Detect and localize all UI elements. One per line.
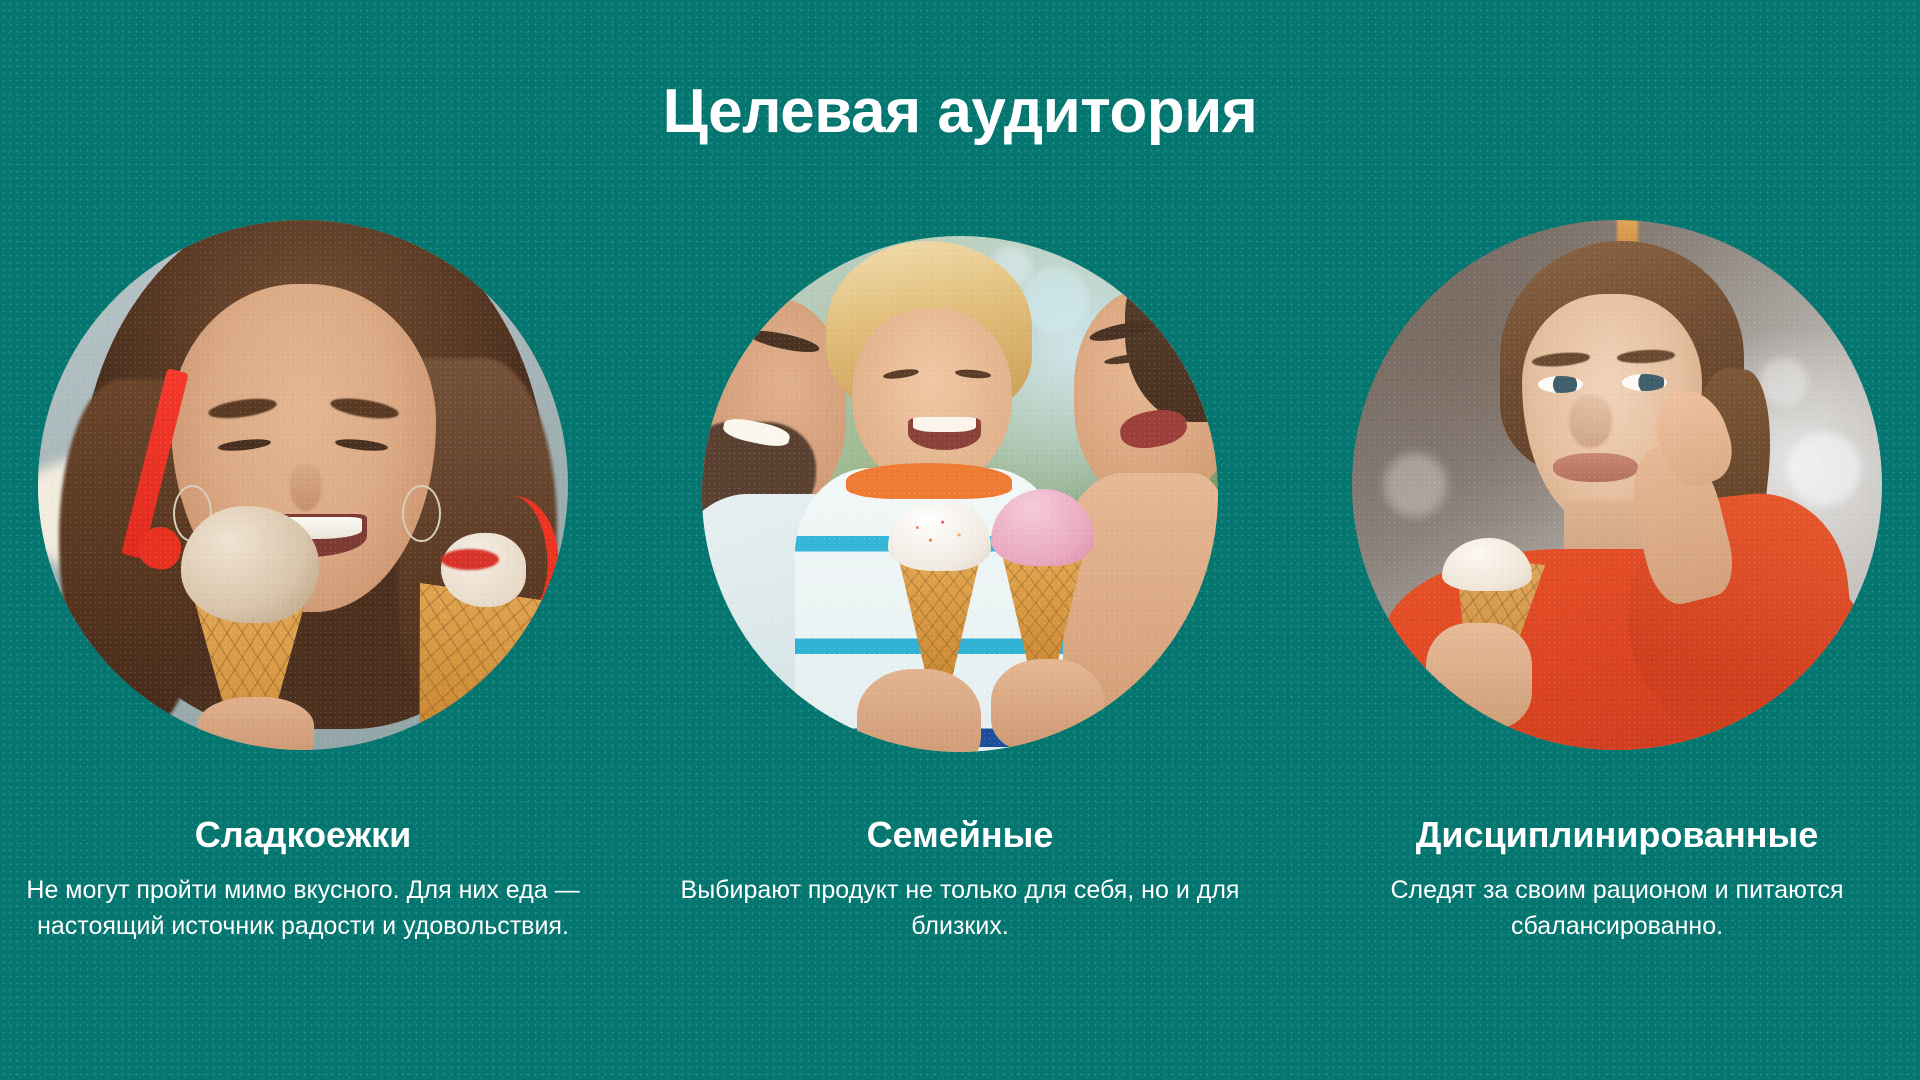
photo-illustration-family-with-icecream bbox=[702, 236, 1218, 752]
persona-description-sweet-tooth: Не могут пройти мимо вкусного. Для них е… bbox=[21, 873, 586, 944]
persona-card-sweet-tooth: Сладкоежки Не могут пройти мимо вкусного… bbox=[18, 220, 588, 944]
persona-title-sweet-tooth: Сладкоежки bbox=[195, 814, 412, 855]
persona-photo-family bbox=[702, 236, 1218, 752]
persona-photo-disciplined bbox=[1352, 220, 1882, 750]
photo-illustration-woman-eating-icecream bbox=[38, 220, 568, 750]
persona-description-disciplined: Следят за своим рационом и питаются сбал… bbox=[1335, 873, 1900, 944]
page-title: Целевая аудитория bbox=[0, 78, 1920, 146]
photo-illustration-woman-orange-sweater bbox=[1352, 220, 1882, 750]
persona-title-family: Семейные bbox=[867, 814, 1054, 855]
persona-card-family: Семейные Выбирают продукт не только для … bbox=[675, 220, 1245, 944]
persona-card-disciplined: Дисциплинированные Следят за своим рацио… bbox=[1332, 220, 1902, 944]
persona-columns: Сладкоежки Не могут пройти мимо вкусного… bbox=[0, 220, 1920, 944]
persona-description-family: Выбирают продукт не только для себя, но … bbox=[678, 873, 1243, 944]
persona-title-disciplined: Дисциплинированные bbox=[1416, 814, 1819, 855]
persona-photo-sweet-tooth bbox=[38, 220, 568, 750]
slide-root: Целевая аудитория bbox=[0, 0, 1920, 1080]
